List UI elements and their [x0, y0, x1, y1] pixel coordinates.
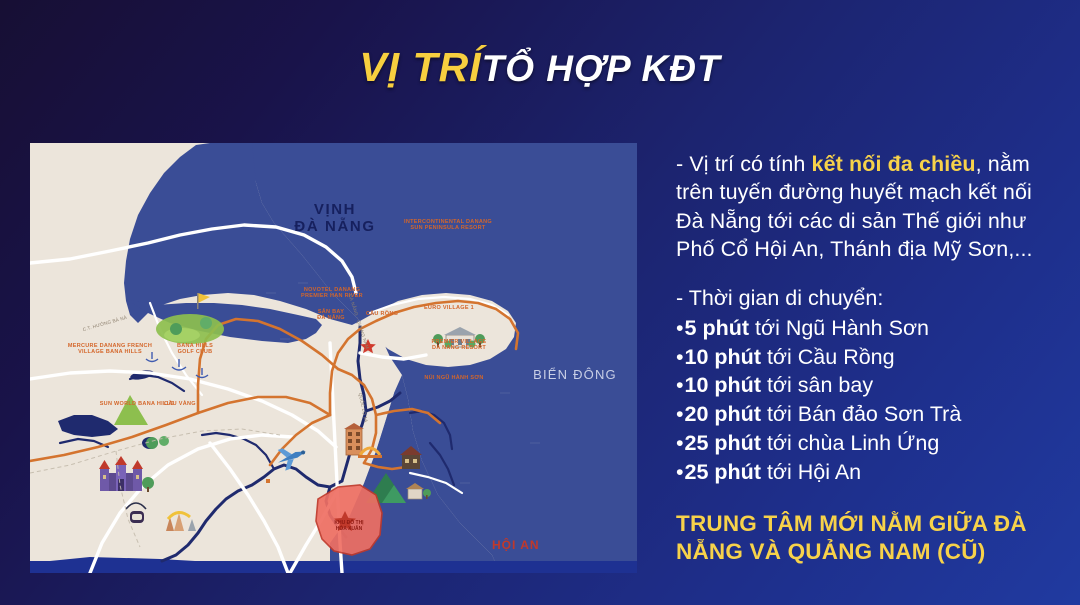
- bullet-icon: •: [676, 345, 684, 369]
- list-item: •5 phút tới Ngũ Hành Sơn: [676, 314, 1054, 343]
- travel-times-heading: - Thời gian di chuyển:: [676, 284, 1054, 312]
- travel-destination: tới Bán đảo Sơn Trà: [761, 402, 961, 426]
- map-graphic: [30, 143, 637, 573]
- title-rest-text: TỔ HỢP KĐT: [482, 48, 721, 89]
- travel-destination: tới Hội An: [761, 460, 861, 484]
- title-accent-text: VỊ TRÍ: [359, 44, 481, 90]
- travel-destination: tới Ngũ Hành Sơn: [749, 316, 929, 340]
- list-item: •25 phút tới chùa Linh Ứng: [676, 429, 1054, 458]
- slide-root: VỊ TRÍTỔ HỢP KĐT: [0, 0, 1080, 605]
- paragraph-lead: - Vị trí có tính: [676, 152, 812, 176]
- page-title: VỊ TRÍTỔ HỢP KĐT: [0, 44, 1080, 91]
- bullet-icon: •: [676, 316, 684, 340]
- list-item: •10 phút tới sân bay: [676, 371, 1054, 400]
- travel-destination: tới Cầu Rồng: [761, 345, 895, 369]
- travel-times-list: •5 phút tới Ngũ Hành Sơn •10 phút tới Cầ…: [676, 314, 1054, 487]
- travel-duration: 25 phút: [685, 431, 761, 455]
- location-map[interactable]: VỊNH ĐÀ NẴNG BIỂN ĐÔNG INTERCONTINENTAL …: [30, 143, 637, 573]
- bullet-icon: •: [676, 460, 684, 484]
- bullet-icon: •: [676, 373, 684, 397]
- list-item: •20 phút tới Bán đảo Sơn Trà: [676, 400, 1054, 429]
- travel-duration: 5 phút: [685, 316, 750, 340]
- paragraph-connectivity: - Vị trí có tính kết nối đa chiều, nằm t…: [676, 150, 1054, 264]
- info-column: - Vị trí có tính kết nối đa chiều, nằm t…: [676, 150, 1054, 565]
- travel-duration: 10 phút: [685, 373, 761, 397]
- paragraph-highlight: kết nối đa chiều: [812, 152, 976, 176]
- travel-destination: tới chùa Linh Ứng: [761, 431, 939, 455]
- bullet-icon: •: [676, 431, 684, 455]
- closing-statement: TRUNG TÂM MỚI NẰM GIỮA ĐÀ NẴNG VÀ QUẢNG …: [676, 510, 1054, 566]
- travel-duration: 10 phút: [685, 345, 761, 369]
- bullet-icon: •: [676, 402, 684, 426]
- list-item: •10 phút tới Cầu Rồng: [676, 343, 1054, 372]
- travel-destination: tới sân bay: [761, 373, 873, 397]
- travel-duration: 20 phút: [685, 402, 761, 426]
- travel-duration: 25 phút: [685, 460, 761, 484]
- list-item: •25 phút tới Hội An: [676, 458, 1054, 487]
